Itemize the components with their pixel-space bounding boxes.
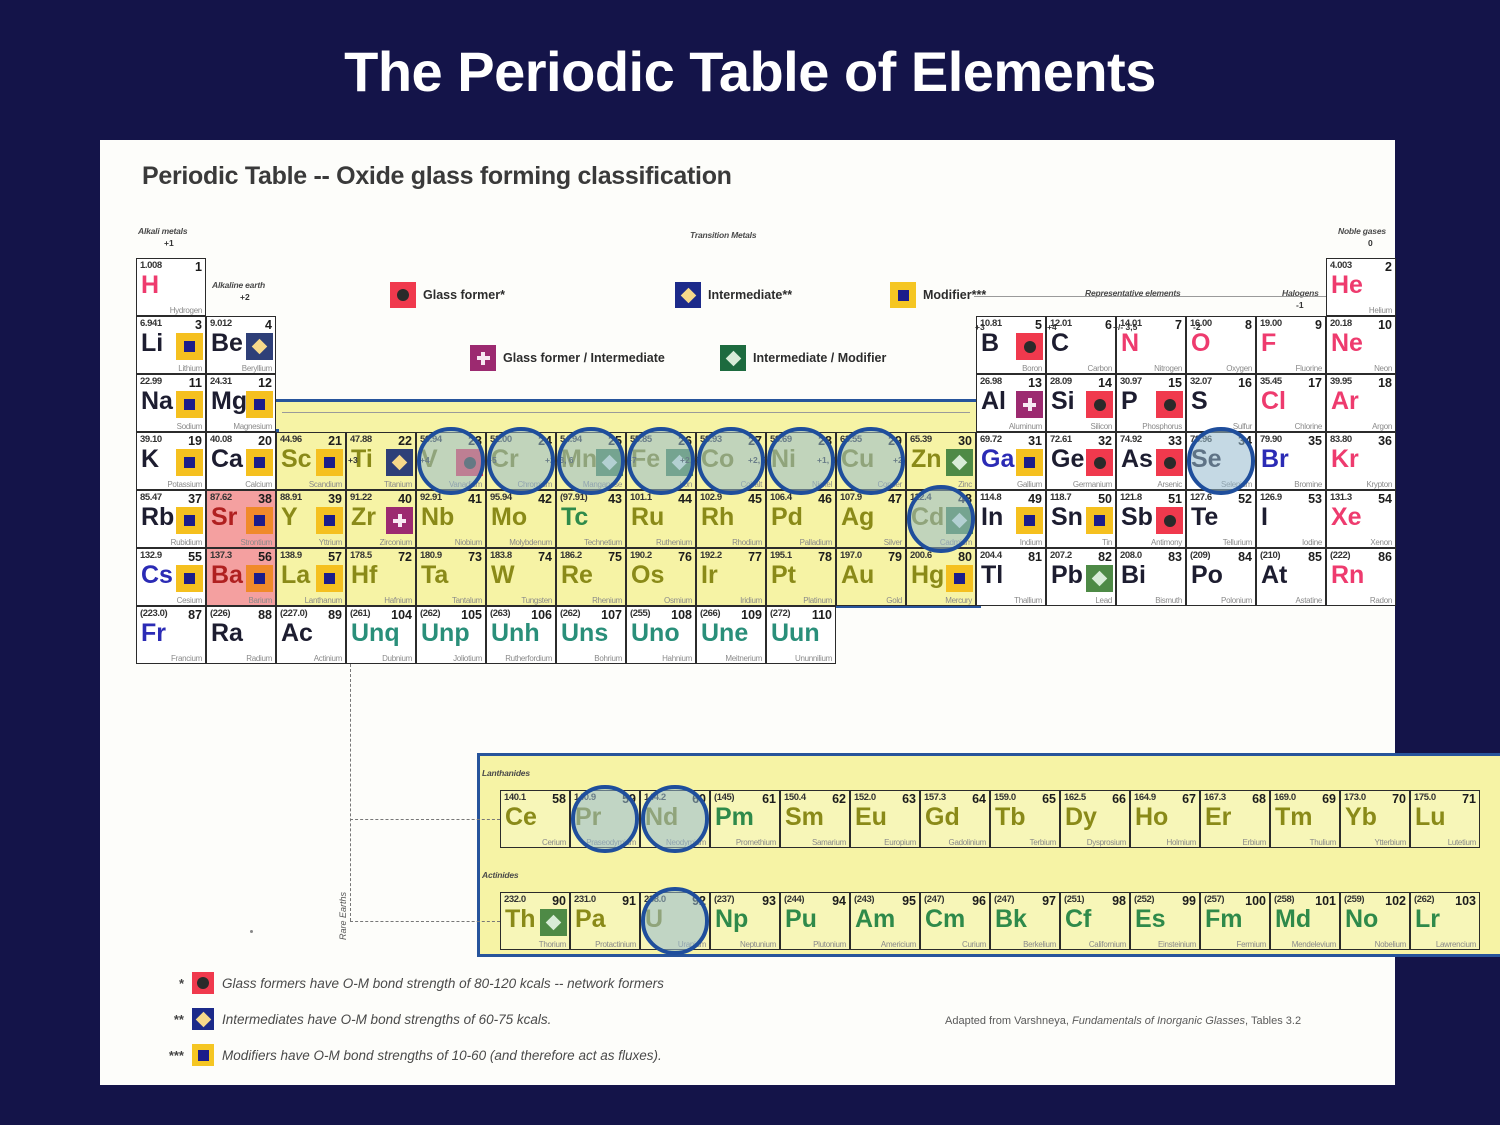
element-number: 19 — [188, 434, 202, 448]
element-symbol: Lr — [1415, 907, 1440, 932]
element-number: 97 — [1042, 894, 1056, 908]
element-symbol: Po — [1191, 563, 1223, 588]
classification-badge-mod — [176, 391, 203, 418]
element-cell-am[interactable]: (243)95AmAmericium — [850, 892, 920, 950]
oxidation-state-label: +7 — [627, 455, 637, 465]
element-name: Actinium — [314, 654, 342, 663]
element-cell-sr[interactable]: 87.6238SrStrontium — [206, 490, 276, 548]
element-name: Arsenic — [1157, 480, 1182, 489]
element-mass: 83.80 — [1330, 434, 1352, 445]
element-cell-fm[interactable]: (257)100FmFermium — [1200, 892, 1270, 950]
element-cell-no[interactable]: (259)102NoNobelium — [1340, 892, 1410, 950]
square-icon — [324, 573, 335, 584]
element-cell-rn[interactable]: (222)86RnRadon — [1326, 548, 1396, 606]
element-cell-na[interactable]: 22.9911NaSodium — [136, 374, 206, 432]
element-symbol: Ru — [631, 505, 664, 530]
element-mass: (247) — [924, 894, 944, 905]
element-cell-he[interactable]: 4.0032HeHelium — [1326, 258, 1396, 316]
element-cell-rh[interactable]: 102.945RhRhodium — [696, 490, 766, 548]
element-cell-in[interactable]: 114.849InIndium — [976, 490, 1046, 548]
element-cell-b[interactable]: 10.815BBoron — [976, 316, 1046, 374]
element-name: Strontium — [240, 538, 272, 547]
square-icon — [254, 399, 265, 410]
element-symbol: Cm — [925, 907, 965, 932]
element-cell-k[interactable]: 39.1019KPotassium — [136, 432, 206, 490]
element-cell-s[interactable]: 32.0716SSulfur — [1186, 374, 1256, 432]
element-symbol: Pu — [785, 907, 817, 932]
element-cell-lr[interactable]: (262)103LrLawrencium — [1410, 892, 1480, 950]
element-cell-hg[interactable]: 200.680HgMercury — [906, 548, 976, 606]
element-cell-tl[interactable]: 204.481TlThallium — [976, 548, 1046, 606]
element-number: 48 — [958, 492, 972, 506]
element-name: Dubnium — [382, 654, 412, 663]
square-icon — [1024, 457, 1035, 468]
element-symbol: Ge — [1051, 447, 1084, 472]
footnote-text: Modifiers have O-M bond strengths of 10-… — [222, 1048, 662, 1063]
element-mass: (272) — [770, 608, 790, 619]
element-cell-mo[interactable]: 95.9442MoMolybdenum — [486, 490, 556, 548]
element-symbol: W — [491, 563, 515, 588]
element-symbol: Gd — [925, 805, 960, 830]
element-cell-cl[interactable]: 35.4517ClChlorine — [1256, 374, 1326, 432]
element-mass: 74.92 — [1120, 434, 1142, 445]
element-symbol: Tc — [561, 505, 588, 530]
element-mass: 78.96 — [1190, 434, 1212, 445]
element-symbol: Mo — [491, 505, 527, 530]
element-name: Technetium — [584, 538, 622, 547]
element-mass: 231.0 — [574, 894, 596, 905]
element-name: Boron — [1022, 364, 1042, 373]
element-number: 24 — [538, 434, 552, 448]
footnote-swatch — [192, 972, 214, 994]
element-symbol: Mg — [211, 389, 247, 414]
element-cell-unq[interactable]: (261)104UnqDubnium — [346, 606, 416, 664]
element-name: Chlorine — [1295, 422, 1322, 431]
element-cell-re[interactable]: 186.275ReRhenium — [556, 548, 626, 606]
diamond-lt-icon — [602, 455, 618, 471]
element-symbol: Hg — [911, 563, 944, 588]
element-name: Helium — [1369, 306, 1392, 315]
element-symbol: P — [1121, 389, 1138, 414]
element-cell-zr[interactable]: 91.2240ZrZirconium — [346, 490, 416, 548]
element-name: Meitnerium — [725, 654, 762, 663]
label-alkali-charge: +1 — [164, 238, 174, 248]
element-cell-ru[interactable]: 101.144RuRuthenium — [626, 490, 696, 548]
element-symbol: Ra — [211, 621, 243, 646]
element-name: Tellurium — [1223, 538, 1252, 547]
element-mass: 88.91 — [280, 492, 302, 503]
oxidation-state-label: +3 — [975, 322, 985, 332]
element-name: Protactinium — [595, 940, 636, 949]
element-cell-si[interactable]: 28.0914SiSilicon — [1046, 374, 1116, 432]
element-cell-p[interactable]: 30.9715PPhosphorus — [1116, 374, 1186, 432]
element-cell-fr[interactable]: (223.0)87FrFrancium — [136, 606, 206, 664]
element-mass: (145) — [714, 792, 734, 803]
element-number: 92 — [692, 894, 706, 908]
legend-label: Glass former / Intermediate — [503, 351, 665, 365]
element-name: Thallium — [1014, 596, 1042, 605]
element-symbol: Ir — [701, 563, 718, 588]
element-cell-sn[interactable]: 118.750SnTin — [1046, 490, 1116, 548]
square-icon — [184, 457, 195, 468]
classification-badge-mod-o — [246, 565, 273, 592]
element-symbol: Uun — [771, 621, 820, 646]
element-name: Osmium — [664, 596, 692, 605]
element-cell-ra[interactable]: (226)88RaRadium — [206, 606, 276, 664]
element-cell-pr[interactable]: 140.959PrPraseodymium — [570, 790, 640, 848]
element-name: Holmium — [1167, 838, 1196, 847]
element-cell-md[interactable]: (258)101MdMendelevium — [1270, 892, 1340, 950]
element-cell-se[interactable]: 78.9634SeSelenium — [1186, 432, 1256, 490]
element-name: Polonium — [1221, 596, 1252, 605]
element-mass: 87.62 — [210, 492, 232, 503]
element-number: 54 — [1378, 492, 1392, 506]
element-symbol: Es — [1135, 907, 1166, 932]
element-name: Lead — [1095, 596, 1112, 605]
element-symbol: Ga — [981, 447, 1014, 472]
element-symbol: Sr — [211, 505, 237, 530]
element-cell-ce[interactable]: 140.158CeCerium — [500, 790, 570, 848]
element-name: Xenon — [1370, 538, 1392, 547]
diamond-lt-icon — [952, 455, 968, 471]
element-cell-xe[interactable]: 131.354XeXenon — [1326, 490, 1396, 548]
diamond-lt-icon — [546, 915, 562, 931]
element-cell-zn[interactable]: 65.3930ZnZinc — [906, 432, 976, 490]
element-name: Yttrium — [319, 538, 342, 547]
legend-label: Glass former* — [423, 288, 505, 302]
element-cell-pt[interactable]: 195.178PtPlatinum — [766, 548, 836, 606]
element-symbol: Te — [1191, 505, 1218, 530]
element-cell-uun[interactable]: (272)110UunUnunnilium — [766, 606, 836, 664]
classification-badge-former — [1156, 391, 1183, 418]
element-name: Thulium — [1310, 838, 1336, 847]
label-noble-gases: Noble gases — [1338, 226, 1386, 236]
element-name: Niobium — [455, 538, 482, 547]
element-mass: 44.96 — [280, 434, 302, 445]
element-name: Gallium — [1017, 480, 1042, 489]
element-number: 91 — [622, 894, 636, 908]
element-mass: 91.22 — [350, 492, 372, 503]
element-name: Lutetium — [1448, 838, 1476, 847]
element-cell-eu[interactable]: 152.063EuEuropium — [850, 790, 920, 848]
element-cell-cs[interactable]: 132.955CsCesium — [136, 548, 206, 606]
element-cell-rb[interactable]: 85.4737RbRubidium — [136, 490, 206, 548]
element-symbol: No — [1345, 907, 1378, 932]
element-mass: 150.4 — [784, 792, 806, 803]
square-icon — [254, 573, 265, 584]
element-mass: 137.3 — [210, 550, 232, 561]
element-cell-as[interactable]: 74.9233AsArsenic — [1116, 432, 1186, 490]
element-symbol: Fr — [141, 621, 166, 646]
element-number: 4 — [265, 318, 272, 332]
element-name: Neon — [1374, 364, 1392, 373]
element-name: Radon — [1370, 596, 1392, 605]
element-number: 102 — [1385, 894, 1406, 908]
classification-badge-im — [1086, 565, 1113, 592]
element-cell-pa[interactable]: 231.091PaProtactinium — [570, 892, 640, 950]
oxidation-state-label: +4 — [1047, 322, 1057, 332]
element-symbol: Nd — [645, 805, 678, 830]
element-name: Silver — [884, 538, 902, 547]
element-name: Iodine — [1302, 538, 1322, 547]
element-number: 15 — [1168, 376, 1182, 390]
circle-icon — [197, 977, 209, 989]
element-number: 32 — [1098, 434, 1112, 448]
element-mass: 180.9 — [420, 550, 442, 561]
element-cell-uno[interactable]: (255)108UnoHahnium — [626, 606, 696, 664]
element-cell-nd[interactable]: 144.260NdNeodymium — [640, 790, 710, 848]
classification-badge-im — [596, 449, 623, 476]
element-mass: 39.95 — [1330, 376, 1352, 387]
element-name: Cadmium — [940, 538, 972, 547]
element-cell-ta[interactable]: 180.973TaTantalum — [416, 548, 486, 606]
element-cell-pu[interactable]: (244)94PuPlutonium — [780, 892, 850, 950]
element-number: 84 — [1238, 550, 1252, 564]
element-symbol: Pa — [575, 907, 606, 932]
element-number: 12 — [258, 376, 272, 390]
element-symbol: Pt — [771, 563, 796, 588]
element-mass: 131.3 — [1330, 492, 1352, 503]
element-cell-cf[interactable]: (251)98CfCalifornium — [1060, 892, 1130, 950]
element-symbol: Fm — [1205, 907, 1243, 932]
element-mass: 173.0 — [1344, 792, 1366, 803]
element-name: Promethium — [736, 838, 776, 847]
element-name: Hahnium — [662, 654, 692, 663]
element-cell-pm[interactable]: (145)61PmPromethium — [710, 790, 780, 848]
element-symbol: He — [1331, 273, 1363, 298]
element-mass: 58.69 — [770, 434, 792, 445]
diamond-lt-icon — [952, 513, 968, 529]
element-mass: (97.91) — [560, 492, 587, 503]
element-mass: 207.2 — [1050, 550, 1072, 561]
element-name: Americium — [881, 940, 916, 949]
element-cell-mg[interactable]: 24.3112MgMagnesium — [206, 374, 276, 432]
element-symbol: Kr — [1331, 447, 1359, 472]
element-cell-dy[interactable]: 162.566DyDysprosium — [1060, 790, 1130, 848]
element-cell-cm[interactable]: (247)96CmCurium — [920, 892, 990, 950]
element-symbol: Unq — [351, 621, 400, 646]
element-mass: 157.3 — [924, 792, 946, 803]
element-name: Thorium — [539, 940, 566, 949]
element-cell-er[interactable]: 167.368ErErbium — [1200, 790, 1270, 848]
element-symbol: Ni — [771, 447, 796, 472]
element-cell-np[interactable]: (237)93NpNeptunium — [710, 892, 780, 950]
element-name: Hydrogen — [170, 306, 202, 315]
element-number: 17 — [1308, 376, 1322, 390]
element-symbol: Au — [841, 563, 874, 588]
element-mass: 121.8 — [1120, 492, 1142, 503]
element-number: 36 — [1378, 434, 1392, 448]
element-cell-lu[interactable]: 175.071LuLutetium — [1410, 790, 1480, 848]
element-cell-bk[interactable]: (247)97BkBerkelium — [990, 892, 1060, 950]
element-cell-unh[interactable]: (263)106UnhRutherfordium — [486, 606, 556, 664]
oxidation-state-label: +4 — [420, 455, 430, 465]
element-symbol: Cu — [841, 447, 874, 472]
element-cell-au[interactable]: 197.079AuGold — [836, 548, 906, 606]
element-cell-ge[interactable]: 72.6132GeGermanium — [1046, 432, 1116, 490]
oxidation-state-label: -2 — [1193, 322, 1201, 332]
element-number: 66 — [1112, 792, 1126, 806]
element-mass: 54.94 — [560, 434, 582, 445]
element-name: Hafnium — [384, 596, 412, 605]
diamond-icon — [392, 455, 408, 471]
element-mass: (259) — [1344, 894, 1364, 905]
classification-badge-fi — [1016, 391, 1043, 418]
element-mass: (209) — [1190, 550, 1210, 561]
element-name: Nobelium — [1375, 940, 1406, 949]
element-cell-bi[interactable]: 208.083BiBismuth — [1116, 548, 1186, 606]
element-name: Dysprosium — [1087, 838, 1126, 847]
element-cell-li[interactable]: 6.9413LiLithium — [136, 316, 206, 374]
element-mass: (261) — [350, 608, 370, 619]
element-cell-la[interactable]: 138.957LaLanthanum — [276, 548, 346, 606]
element-mass: 208.0 — [1120, 550, 1142, 561]
element-mass: 127.6 — [1190, 492, 1212, 503]
element-mass: 106.4 — [770, 492, 792, 503]
element-cell-gd[interactable]: 157.364GdGadolinium — [920, 790, 990, 848]
element-cell-ca[interactable]: 40.0820CaCalcium — [206, 432, 276, 490]
element-name: Cobalt — [741, 480, 762, 489]
element-symbol: N — [1121, 331, 1139, 356]
footnote-marker: *** — [162, 1048, 184, 1063]
element-mass: 232.0 — [504, 894, 526, 905]
element-cell-f[interactable]: 19.009FFluorine — [1256, 316, 1326, 374]
element-cell-ac[interactable]: (227.0)89AcActinium — [276, 606, 346, 664]
element-name: Iridium — [740, 596, 762, 605]
element-number: 52 — [1238, 492, 1252, 506]
element-cell-u[interactable]: 238.092UUranium — [640, 892, 710, 950]
classification-badge-mod — [1086, 507, 1113, 534]
element-name: Copper — [878, 480, 902, 489]
element-cell-at[interactable]: (210)85AtAstatine — [1256, 548, 1326, 606]
element-cell-te[interactable]: 127.652TeTellurium — [1186, 490, 1256, 548]
element-number: 75 — [608, 550, 622, 564]
element-mass: 24.31 — [210, 376, 232, 387]
classification-badge-inter — [386, 449, 413, 476]
element-cell-une[interactable]: (266)109UneMeitnerium — [696, 606, 766, 664]
element-number: 59 — [622, 792, 636, 806]
element-cell-po[interactable]: (209)84PoPolonium — [1186, 548, 1256, 606]
element-cell-uns[interactable]: (262)107UnsBohrium — [556, 606, 626, 664]
element-name: Neptunium — [740, 940, 776, 949]
element-mass: 39.10 — [140, 434, 162, 445]
element-cell-yb[interactable]: 173.070YbYtterbium — [1340, 790, 1410, 848]
element-cell-ho[interactable]: 164.967HoHolmium — [1130, 790, 1200, 848]
element-cell-w[interactable]: 183.874WTungsten — [486, 548, 556, 606]
element-cell-be[interactable]: 9.0124BeBeryllium — [206, 316, 276, 374]
element-mass: (226) — [210, 608, 230, 619]
element-number: 22 — [398, 434, 412, 448]
element-name: Oxygen — [1226, 364, 1252, 373]
element-symbol: Zn — [911, 447, 942, 472]
element-symbol: Tl — [981, 563, 1003, 588]
element-cell-es[interactable]: (252)99EsEinsteinium — [1130, 892, 1200, 950]
element-name: Molybdenum — [509, 538, 552, 547]
element-cell-tm[interactable]: 169.069TmThulium — [1270, 790, 1340, 848]
element-name: Mendelevium — [1292, 940, 1336, 949]
element-cell-i[interactable]: 126.953IIodine — [1256, 490, 1326, 548]
element-mass: 190.2 — [630, 550, 652, 561]
element-cell-pd[interactable]: 106.446PdPalladium — [766, 490, 836, 548]
element-name: Zinc — [958, 480, 972, 489]
element-cell-ba[interactable]: 137.356BaBarium — [206, 548, 276, 606]
element-cell-ag[interactable]: 107.947AgSilver — [836, 490, 906, 548]
element-number: 13 — [1028, 376, 1042, 390]
element-cell-ne[interactable]: 20.1810NeNeon — [1326, 316, 1396, 374]
element-number: 30 — [958, 434, 972, 448]
element-cell-ar[interactable]: 39.9518ArArgon — [1326, 374, 1396, 432]
periodic-table-figure: Periodic Table -- Oxide glass forming cl… — [100, 140, 1395, 1085]
element-number: 62 — [832, 792, 846, 806]
circle-icon — [1164, 515, 1176, 527]
element-cell-unp[interactable]: (262)105UnpJoliotium — [416, 606, 486, 664]
element-number: 86 — [1378, 550, 1392, 564]
element-symbol: Cs — [141, 563, 173, 588]
element-number: 72 — [398, 550, 412, 564]
element-cell-br[interactable]: 79.9035BrBromine — [1256, 432, 1326, 490]
element-cell-sb[interactable]: 121.851SbAntimony — [1116, 490, 1186, 548]
element-name: Rhenium — [592, 596, 622, 605]
element-mass: (266) — [700, 608, 720, 619]
element-cell-pb[interactable]: 207.282PbLead — [1046, 548, 1116, 606]
element-mass: 6.941 — [140, 318, 162, 329]
footnote-swatch — [192, 1008, 214, 1030]
element-cell-sc[interactable]: 44.9621ScScandium — [276, 432, 346, 490]
element-name: Californium — [1089, 940, 1126, 949]
element-cell-ir[interactable]: 192.277IrIridium — [696, 548, 766, 606]
square-icon — [324, 457, 335, 468]
element-name: Carbon — [1088, 364, 1112, 373]
element-cell-kr[interactable]: 83.8036KrKrypton — [1326, 432, 1396, 490]
element-cell-h[interactable]: 1.0081HHydrogen — [136, 258, 206, 316]
element-number: 25 — [608, 434, 622, 448]
element-mass: 114.8 — [980, 492, 1001, 503]
element-name: Argon — [1372, 422, 1392, 431]
element-cell-ga[interactable]: 69.7231GaGallium — [976, 432, 1046, 490]
element-name: Tungsten — [521, 596, 552, 605]
element-symbol: Na — [141, 389, 173, 414]
element-symbol: Bi — [1121, 563, 1146, 588]
element-cell-al[interactable]: 26.9813AlAluminum — [976, 374, 1046, 432]
element-mass: 140.9 — [574, 792, 596, 803]
element-name: Rhodium — [732, 538, 762, 547]
element-number: 20 — [258, 434, 272, 448]
element-cell-hf[interactable]: 178.572HfHafnium — [346, 548, 416, 606]
element-mass: 101.1 — [630, 492, 652, 503]
element-cell-th[interactable]: 232.090ThThorium — [500, 892, 570, 950]
element-symbol: Pr — [575, 805, 601, 830]
element-number: 60 — [692, 792, 706, 806]
element-cell-os[interactable]: 190.276OsOsmium — [626, 548, 696, 606]
element-cell-tc[interactable]: (97.91)43TcTechnetium — [556, 490, 626, 548]
classification-badge-mod — [246, 449, 273, 476]
element-cell-tb[interactable]: 159.065TbTerbium — [990, 790, 1060, 848]
element-name: Beryllium — [242, 364, 272, 373]
element-cell-y[interactable]: 88.9139YYttrium — [276, 490, 346, 548]
element-number: 55 — [188, 550, 202, 564]
footnote-1: *Glass formers have O-M bond strength of… — [162, 972, 664, 994]
element-symbol: In — [981, 505, 1003, 530]
element-name: Ytterbium — [1374, 838, 1406, 847]
element-cell-nb[interactable]: 92.9141NbNiobium — [416, 490, 486, 548]
element-cell-cd[interactable]: 112.448CdCadmium — [906, 490, 976, 548]
element-symbol: Uno — [631, 621, 680, 646]
element-name: Zirconium — [380, 538, 412, 547]
element-name: Fluorine — [1295, 364, 1322, 373]
element-cell-sm[interactable]: 150.462SmSamarium — [780, 790, 850, 848]
classification-badge-former — [456, 449, 483, 476]
element-symbol: H — [141, 273, 159, 298]
